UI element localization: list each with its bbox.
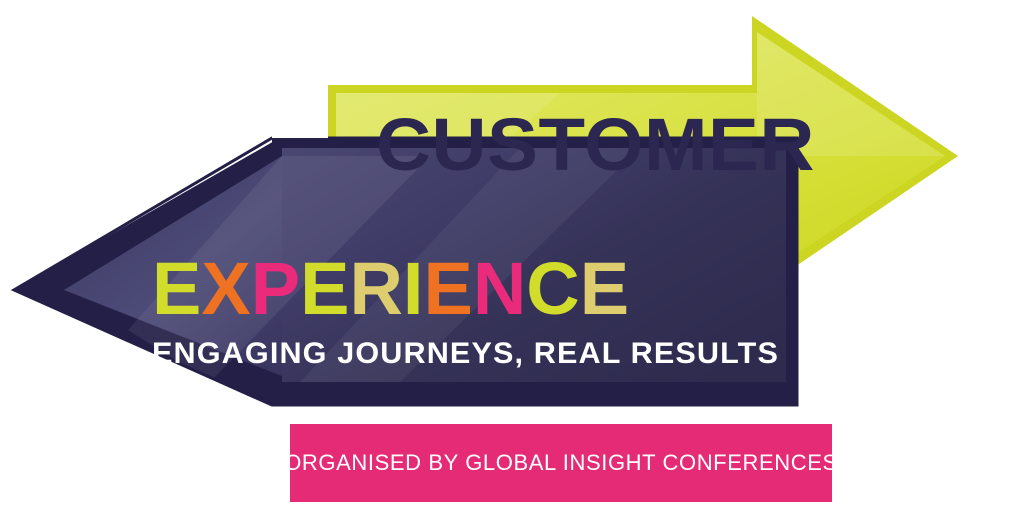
left-arrow-experience [14, 138, 797, 405]
logo-canvas: CUSTOMER EXPERIENCE ENGAGING JOURNEYS, R… [0, 0, 1024, 512]
organiser-banner: ORGANISED BY GLOBAL INSIGHT CONFERENCES [290, 424, 832, 502]
organiser-credit-text: ORGANISED BY GLOBAL INSIGHT CONFERENCES [284, 450, 838, 476]
arrow-notch-gap [272, 85, 328, 138]
